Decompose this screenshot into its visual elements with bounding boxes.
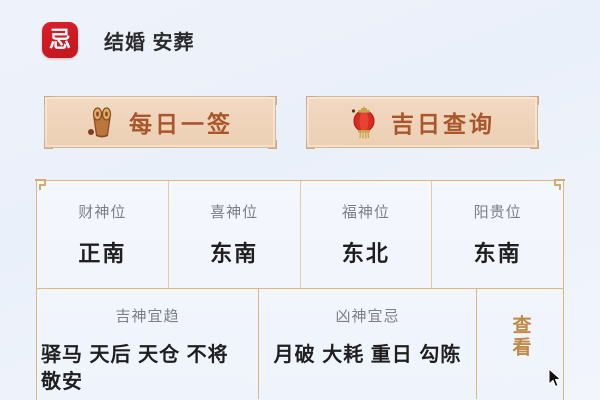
direction-cell-wealth: 财神位 正南 [37, 181, 169, 288]
daily-fortune-button[interactable]: 每日一签 [44, 96, 276, 148]
corner-notch-icon [530, 140, 539, 149]
direction-cell-fortune: 福神位 东北 [301, 181, 433, 288]
taboo-text: 结婚 安葬 [104, 26, 195, 55]
bad-spirits-items: 月破 大耗 重日 勾陈 [259, 342, 476, 369]
good-spirits-column: 吉神宜趋 驿马 天后 天仓 不将 敬安 [37, 289, 259, 399]
good-spirits-items: 驿马 天后 天仓 不将 敬安 [37, 342, 258, 396]
cell-value: 东南 [474, 236, 522, 268]
corner-notch-icon [306, 140, 315, 149]
cell-title: 喜神位 [210, 201, 258, 222]
good-spirits-title: 吉神宜趋 [115, 305, 179, 326]
auspicious-day-label: 吉日查询 [391, 105, 495, 139]
cell-title: 阳贵位 [474, 201, 522, 222]
bad-spirits-column: 凶神宜忌 月破 大耗 重日 勾陈 [259, 289, 477, 399]
corner-notch-icon [44, 96, 53, 105]
corner-notch-icon [268, 140, 277, 149]
cell-value: 正南 [78, 236, 126, 268]
taboo-header: 忌 结婚 安葬 [42, 22, 195, 58]
mouse-cursor-icon [548, 368, 562, 388]
lantern-icon [349, 105, 379, 139]
corner-notch-icon [44, 140, 53, 149]
corner-ornament-icon [35, 179, 48, 192]
corner-ornament-icon [552, 179, 565, 192]
cell-title: 福神位 [342, 201, 390, 222]
spirits-row: 吉神宜趋 驿马 天后 天仓 不将 敬安 凶神宜忌 月破 大耗 重日 勾陈 查看 [37, 289, 563, 399]
direction-cell-yang-noble: 阳贵位 东南 [432, 181, 563, 288]
cell-value: 东南 [210, 236, 258, 268]
corner-notch-icon [268, 96, 277, 105]
bad-spirits-title: 凶神宜忌 [335, 305, 399, 326]
direction-cell-joy: 喜神位 东南 [169, 181, 301, 288]
direction-row: 财神位 正南 喜神位 东南 福神位 东北 阳贵位 东南 [37, 181, 563, 289]
fortune-sticks-icon [87, 105, 117, 139]
daily-fortune-label: 每日一签 [129, 105, 233, 139]
corner-notch-icon [530, 96, 539, 105]
almanac-table: 财神位 正南 喜神位 东南 福神位 东北 阳贵位 东南 吉神宜趋 驿马 天后 天… [36, 180, 564, 400]
cell-title: 财神位 [78, 201, 126, 222]
taboo-badge: 忌 [42, 22, 78, 58]
view-more-label: 查看 [507, 315, 534, 359]
auspicious-day-button[interactable]: 吉日查询 [306, 96, 538, 148]
corner-notch-icon [306, 96, 315, 105]
cell-value: 东北 [342, 236, 390, 268]
action-button-row: 每日一签 吉日查询 [44, 96, 538, 148]
